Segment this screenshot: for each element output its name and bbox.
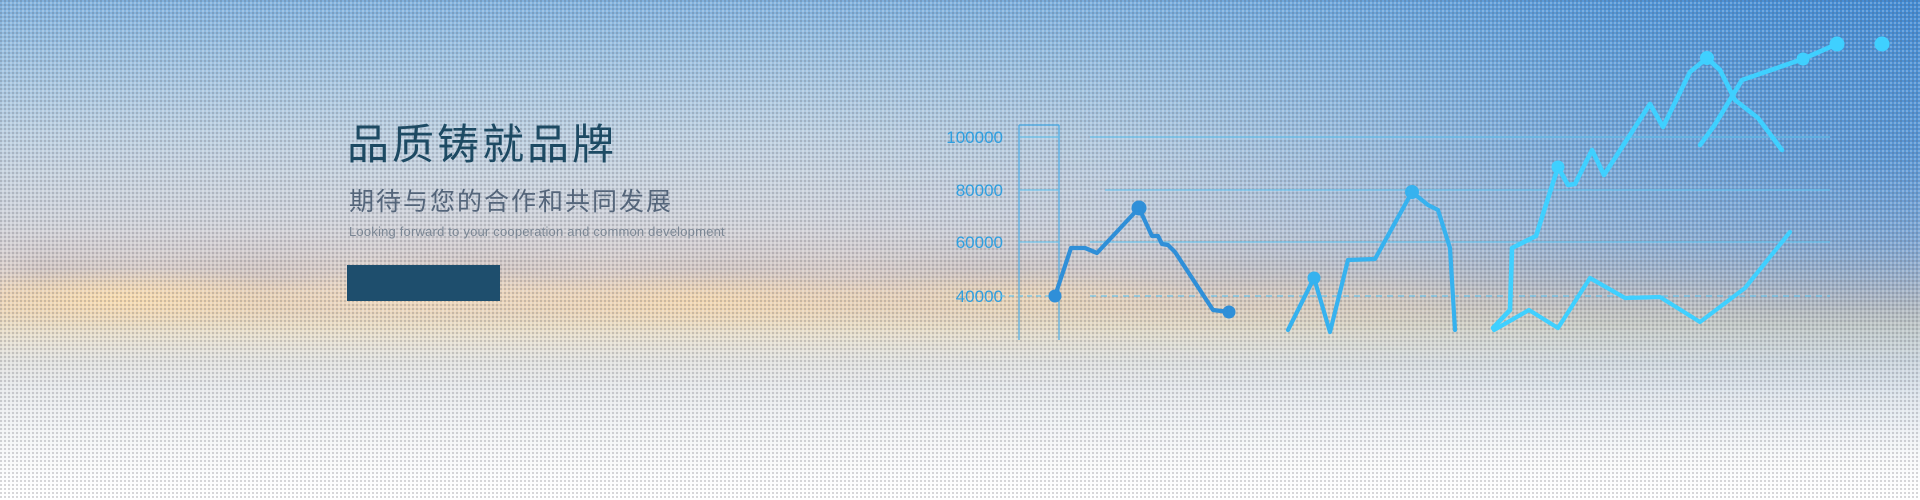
subheadline-chinese: 期待与您的合作和共同发展 <box>349 189 767 217</box>
hero-copy-block: 品质铸就品牌 期待与您的合作和共同发展 Looking forward to y… <box>347 122 767 301</box>
subheadline-english: Looking forward to your cooperation and … <box>349 224 767 240</box>
page-title: 品质铸就品牌 <box>347 122 767 167</box>
cta-button[interactable] <box>347 265 500 301</box>
hero-banner: 100000 80000 60000 40000 <box>0 0 1920 500</box>
background-blue-overlay <box>0 0 1920 500</box>
